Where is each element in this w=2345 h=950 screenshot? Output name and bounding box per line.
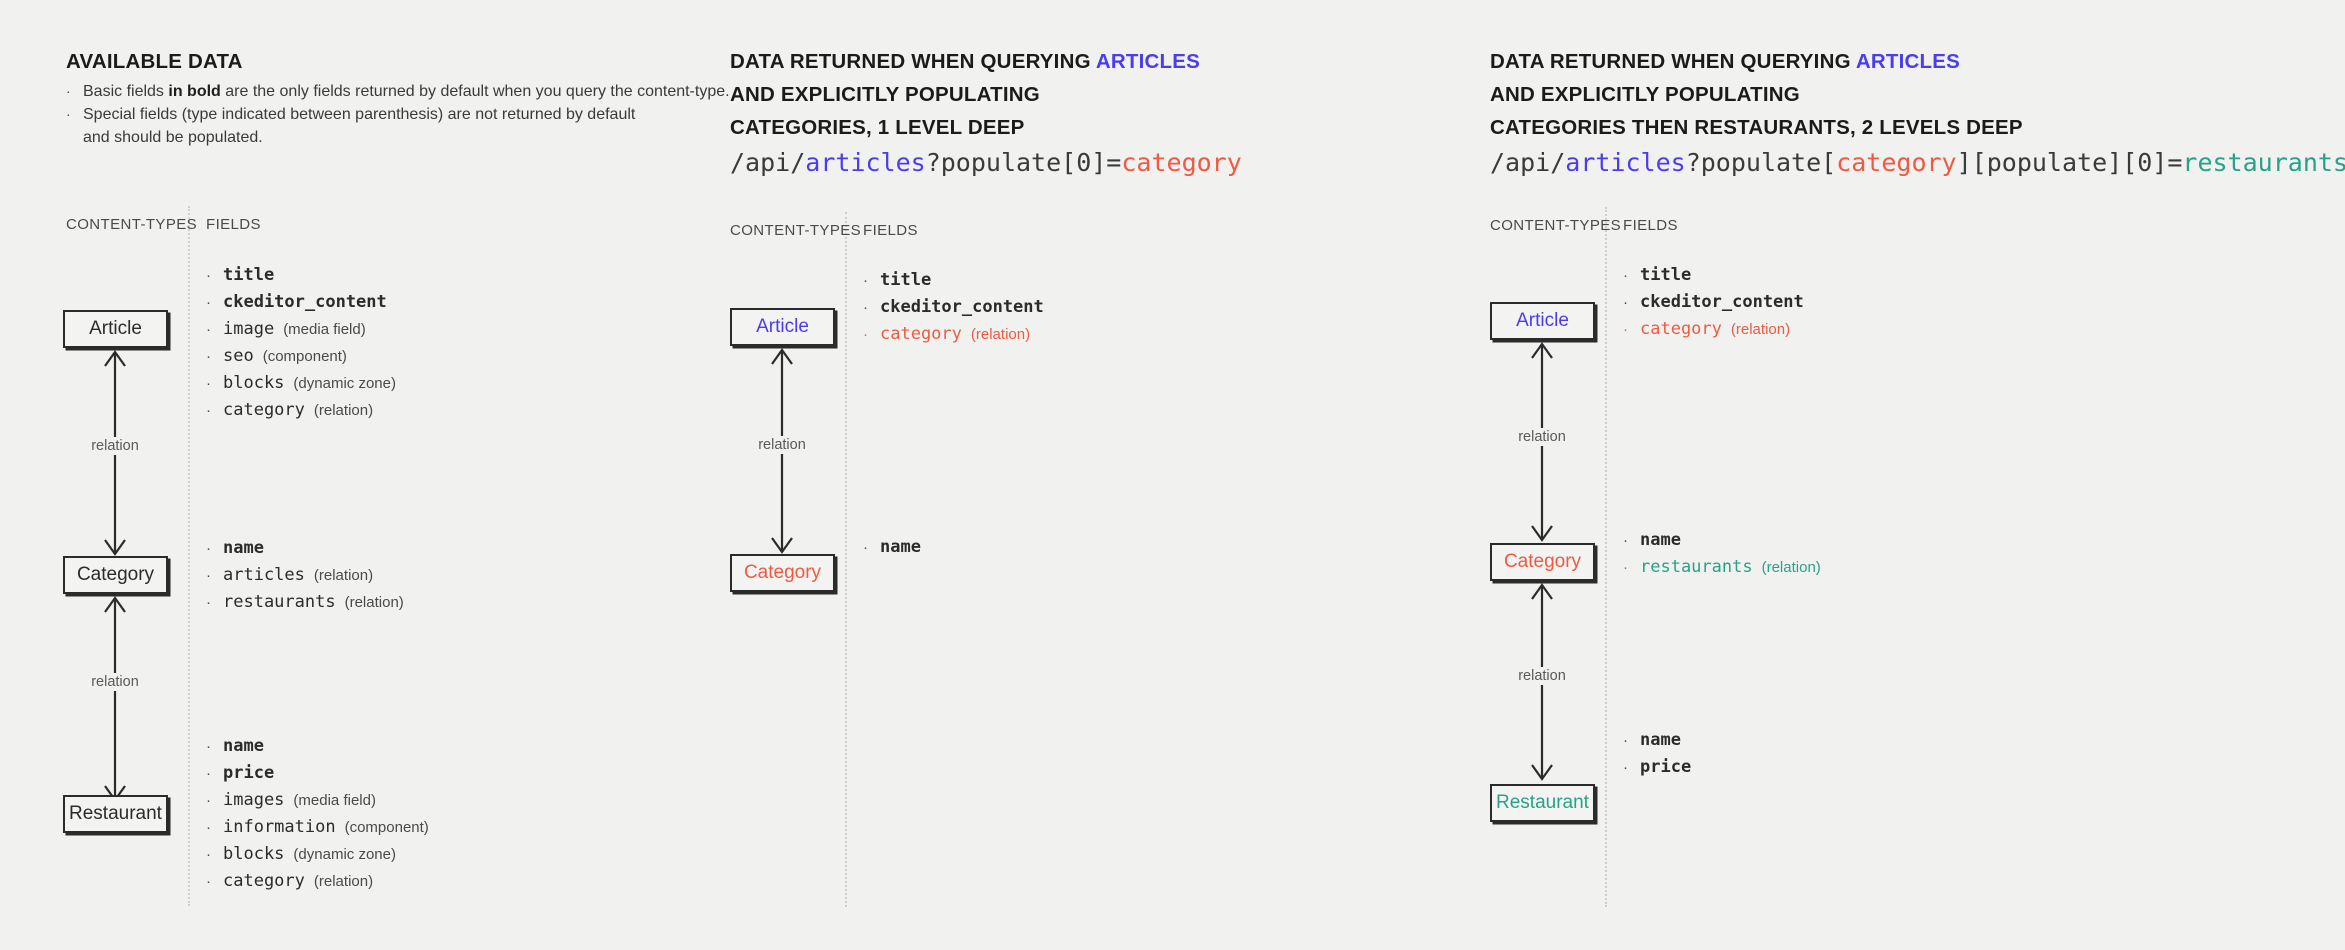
api-path-collection: articles	[805, 148, 925, 177]
field-type: (component)	[263, 343, 347, 370]
panel-3-api-path: /api/articles?populate[category][populat…	[1490, 148, 2345, 178]
field-type: (dynamic zone)	[293, 841, 396, 868]
field-name: ckeditor_content	[223, 289, 387, 316]
bullet-icon: ·	[206, 316, 223, 343]
relation-label: relation	[86, 437, 144, 455]
bullet-icon: ·	[206, 868, 223, 895]
field-name: name	[880, 534, 921, 561]
bullet-icon: ·	[206, 535, 223, 562]
api-path-populate-value: category	[1121, 148, 1241, 177]
field-row: ·blocks(dynamic zone)	[206, 841, 429, 868]
bullet-icon: ·	[1623, 754, 1640, 781]
bullet-icon: ·	[206, 814, 223, 841]
field-name: category	[223, 868, 305, 895]
field-row: ·title	[206, 262, 396, 289]
field-list-category: ·name ·restaurants(relation)	[1623, 527, 1821, 581]
field-list-article: ·title ·ckeditor_content ·image(media fi…	[206, 262, 396, 424]
field-list-article: ·title ·ckeditor_content ·category(relat…	[863, 267, 1044, 348]
field-row: ·title	[1623, 262, 1804, 289]
bullet-icon: ·	[863, 294, 880, 321]
field-type: (relation)	[1731, 316, 1790, 343]
panel-1-heading: AVAILABLE DATA	[66, 45, 243, 78]
field-type: (component)	[345, 814, 429, 841]
api-path-query: ?populate[0]=	[926, 148, 1122, 177]
panel-2-divider	[845, 212, 847, 907]
field-name: title	[1640, 262, 1691, 289]
panel-2-api-path: /api/articles?populate[0]=category	[730, 148, 1242, 178]
field-name: ckeditor_content	[1640, 289, 1804, 316]
bullet-icon: ·	[206, 262, 223, 289]
bullet-icon: ·	[1623, 316, 1640, 343]
api-path-populate-level-1: category	[1836, 148, 1956, 177]
field-name: image	[223, 316, 274, 343]
content-type-box-label: Article	[89, 318, 142, 340]
bullet-icon: ·	[206, 787, 223, 814]
field-type: (relation)	[345, 589, 404, 616]
field-row: ·category(relation)	[863, 321, 1044, 348]
field-row: ·price	[1623, 754, 1691, 781]
field-row: ·name	[206, 733, 429, 760]
field-row: ·name	[206, 535, 404, 562]
api-path-query-2: ][populate][0]=	[1957, 148, 2183, 177]
api-path-populate-level-2: restaurants	[2182, 148, 2345, 177]
panel-3-fields-label: FIELDS	[1623, 217, 1678, 234]
content-type-box-label: Category	[744, 562, 821, 584]
bullet-icon: ·	[1623, 289, 1640, 316]
field-name: price	[223, 760, 274, 787]
panel-2-heading-highlight: ARTICLES	[1096, 50, 1200, 73]
panel-1-intro: · Basic fields in bold are the only fiel…	[66, 80, 730, 149]
field-list-category: ·name ·articles(relation) ·restaurants(r…	[206, 535, 404, 616]
panel-2-fields-label: FIELDS	[863, 222, 918, 239]
content-type-box-category[interactable]: Category	[63, 556, 168, 594]
bullet-icon: ·	[206, 841, 223, 868]
panel-3-heading-prefix: DATA RETURNED WHEN QUERYING	[1490, 50, 1856, 73]
relation-label: relation	[86, 673, 144, 691]
panel-1-fields-label: FIELDS	[206, 216, 261, 233]
panel-3-content-types-label: CONTENT-TYPES	[1490, 217, 1621, 234]
field-name: name	[1640, 727, 1681, 754]
field-type: (media field)	[283, 316, 366, 343]
intro-line-2-text: Special fields (type indicated between p…	[83, 103, 635, 126]
api-path-collection: articles	[1565, 148, 1685, 177]
content-type-box-category[interactable]: Category	[1490, 543, 1595, 581]
intro-line-1-text: Basic fields in bold are the only fields…	[83, 80, 730, 103]
bullet-icon: ·	[206, 397, 223, 424]
field-row: ·category(relation)	[206, 868, 429, 895]
panel-3-heading-line-3: CATEGORIES THEN RESTAURANTS, 2 LEVELS DE…	[1490, 111, 2023, 144]
field-name: price	[1640, 754, 1691, 781]
field-name: title	[223, 262, 274, 289]
field-name: name	[1640, 527, 1681, 554]
intro-line-2: · Special fields (type indicated between…	[66, 103, 730, 126]
field-row: ·articles(relation)	[206, 562, 404, 589]
content-type-box-label: Restaurant	[1496, 792, 1589, 814]
bullet-icon: ·	[863, 321, 880, 348]
content-type-box-restaurant[interactable]: Restaurant	[63, 795, 168, 833]
field-list-category: ·name	[863, 534, 921, 561]
field-type: (relation)	[971, 321, 1030, 348]
field-list-article: ·title ·ckeditor_content ·category(relat…	[1623, 262, 1804, 343]
field-row: ·seo(component)	[206, 343, 396, 370]
bullet-icon: ·	[206, 289, 223, 316]
bullet-icon: ·	[206, 343, 223, 370]
field-type: (relation)	[314, 397, 373, 424]
content-type-box-article[interactable]: Article	[1490, 302, 1595, 340]
field-row: ·images(media field)	[206, 787, 429, 814]
bullet-icon: ·	[206, 760, 223, 787]
bullet-icon: ·	[206, 589, 223, 616]
field-name: restaurants	[1640, 554, 1753, 581]
bullet-icon: ·	[1623, 262, 1640, 289]
intro-line-2-cont: and should be populated.	[83, 126, 730, 149]
panel-1-divider	[188, 206, 190, 906]
field-row: ·information(component)	[206, 814, 429, 841]
panel-3-heading-highlight: ARTICLES	[1856, 50, 1960, 73]
api-path-query: ?populate[	[1686, 148, 1837, 177]
field-row: ·image(media field)	[206, 316, 396, 343]
field-type: (relation)	[314, 562, 373, 589]
intro-line-1: · Basic fields in bold are the only fiel…	[66, 80, 730, 103]
field-type: (relation)	[314, 868, 373, 895]
field-name: blocks	[223, 841, 284, 868]
diagram-page: AVAILABLE DATA · Basic fields in bold ar…	[0, 0, 2345, 950]
content-type-box-article[interactable]: Article	[63, 310, 168, 348]
bullet-icon: ·	[863, 267, 880, 294]
panel-populate-1-level: DATA RETURNED WHEN QUERYING ARTICLES AND…	[730, 0, 1490, 950]
field-name: images	[223, 787, 284, 814]
content-type-box-category[interactable]: Category	[730, 554, 835, 592]
field-name: category	[880, 321, 962, 348]
bullet-icon: ·	[1623, 527, 1640, 554]
panel-2-heading-line-2: AND EXPLICITLY POPULATING	[730, 78, 1040, 111]
bullet-icon: ·	[206, 370, 223, 397]
content-type-box-article[interactable]: Article	[730, 308, 835, 346]
content-type-box-label: Category	[1504, 551, 1581, 573]
panel-2-content-types-label: CONTENT-TYPES	[730, 222, 861, 239]
panel-populate-2-levels: DATA RETURNED WHEN QUERYING ARTICLES AND…	[1490, 0, 2345, 950]
field-name: information	[223, 814, 336, 841]
bullet-icon: ·	[863, 534, 880, 561]
relation-label: relation	[1513, 428, 1571, 446]
bullet-icon: ·	[206, 562, 223, 589]
field-name: ckeditor_content	[880, 294, 1044, 321]
field-row: ·ckeditor_content	[1623, 289, 1804, 316]
field-type: (media field)	[293, 787, 376, 814]
panel-3-heading-line-1: DATA RETURNED WHEN QUERYING ARTICLES	[1490, 45, 1960, 78]
field-row: ·ckeditor_content	[863, 294, 1044, 321]
field-row: ·ckeditor_content	[206, 289, 396, 316]
content-type-box-label: Category	[77, 564, 154, 586]
field-name: blocks	[223, 370, 284, 397]
bullet-icon: ·	[206, 733, 223, 760]
field-name: name	[223, 535, 264, 562]
field-row: ·price	[206, 760, 429, 787]
field-name: name	[223, 733, 264, 760]
field-row: ·category(relation)	[206, 397, 396, 424]
relation-label: relation	[753, 436, 811, 454]
field-row: ·name	[1623, 727, 1691, 754]
api-path-base: /api/	[1490, 148, 1565, 177]
field-row: ·blocks(dynamic zone)	[206, 370, 396, 397]
field-name: restaurants	[223, 589, 336, 616]
content-type-box-label: Restaurant	[69, 803, 162, 825]
bullet-icon: ·	[1623, 727, 1640, 754]
panel-2-heading-prefix: DATA RETURNED WHEN QUERYING	[730, 50, 1096, 73]
field-type: (relation)	[1762, 554, 1821, 581]
field-list-restaurant: ·name ·price	[1623, 727, 1691, 781]
api-path-base: /api/	[730, 148, 805, 177]
field-row: ·restaurants(relation)	[1623, 554, 1821, 581]
content-type-box-label: Article	[756, 316, 809, 338]
panel-3-heading-line-2: AND EXPLICITLY POPULATING	[1490, 78, 1800, 111]
content-type-box-label: Article	[1516, 310, 1569, 332]
bullet-icon: ·	[1623, 554, 1640, 581]
field-type: (dynamic zone)	[293, 370, 396, 397]
relation-arrow-category-restaurant	[100, 594, 130, 804]
panel-2-heading-line-3: CATEGORIES, 1 LEVEL DEEP	[730, 111, 1025, 144]
field-row: ·restaurants(relation)	[206, 589, 404, 616]
field-name: category	[1640, 316, 1722, 343]
field-name: seo	[223, 343, 254, 370]
field-list-restaurant: ·name ·price ·images(media field) ·infor…	[206, 733, 429, 895]
field-row: ·name	[1623, 527, 1821, 554]
panel-1-content-types-label: CONTENT-TYPES	[66, 216, 197, 233]
panel-2-heading-line-1: DATA RETURNED WHEN QUERYING ARTICLES	[730, 45, 1200, 78]
field-row: ·title	[863, 267, 1044, 294]
field-name: title	[880, 267, 931, 294]
panel-3-divider	[1605, 207, 1607, 907]
content-type-box-restaurant[interactable]: Restaurant	[1490, 784, 1595, 822]
relation-label: relation	[1513, 667, 1571, 685]
field-name: articles	[223, 562, 305, 589]
field-name: category	[223, 397, 305, 424]
field-row: ·category(relation)	[1623, 316, 1804, 343]
bullet-icon: ·	[66, 80, 83, 103]
field-row: ·name	[863, 534, 921, 561]
bullet-icon: ·	[66, 103, 83, 126]
